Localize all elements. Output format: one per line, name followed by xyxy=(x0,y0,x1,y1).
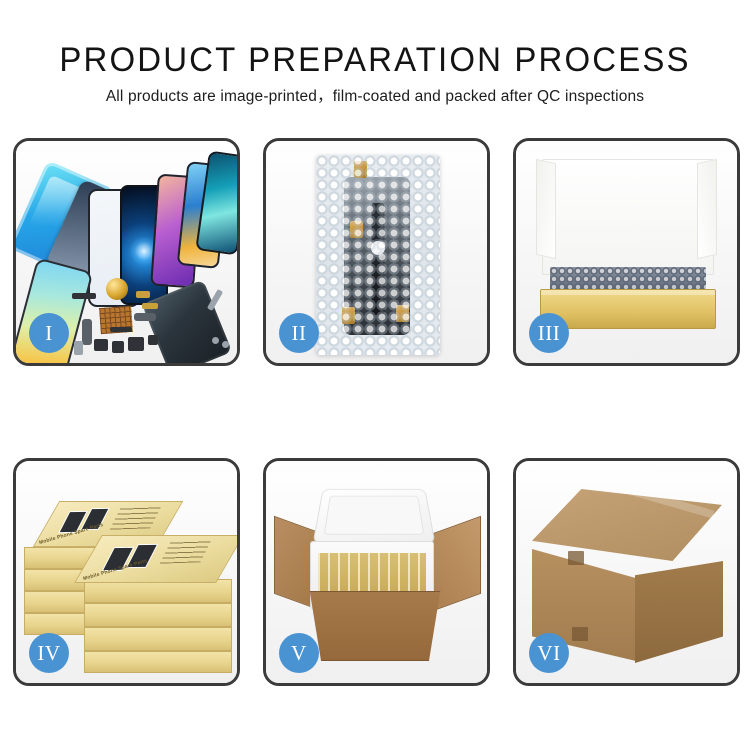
small-part xyxy=(134,313,156,321)
small-part xyxy=(94,339,108,351)
bubble-wrap-bag xyxy=(316,155,440,355)
small-part xyxy=(82,319,92,345)
carton-body xyxy=(304,591,446,661)
infographic-page: PRODUCT PREPARATION PROCESS All products… xyxy=(0,0,750,750)
screw-part xyxy=(222,341,229,348)
coil-part xyxy=(106,278,128,300)
page-subtitle: All products are image-printed，film-coat… xyxy=(0,87,750,107)
box-flap-left xyxy=(536,159,556,259)
step-panel-4: Mobile Phone Spare Parts Mobile Phone Sp… xyxy=(13,458,240,686)
carton-side-face xyxy=(635,561,723,663)
small-part xyxy=(128,337,144,351)
small-part xyxy=(110,327,132,332)
step-panel-6: VI xyxy=(513,458,740,686)
step-badge-5: V xyxy=(279,633,319,673)
foam-box-lid xyxy=(312,489,435,544)
step-badge-2: II xyxy=(279,313,319,353)
small-part xyxy=(72,293,96,299)
small-part xyxy=(74,341,83,355)
small-part xyxy=(136,291,150,298)
screw-part xyxy=(212,337,219,344)
stacked-box xyxy=(84,603,232,627)
step-badge-6: VI xyxy=(529,633,569,673)
white-box-lid xyxy=(542,159,714,275)
stacked-box xyxy=(84,651,232,673)
header: PRODUCT PREPARATION PROCESS All products… xyxy=(0,0,750,107)
carton-tape-mark xyxy=(572,627,588,641)
step-badge-4: IV xyxy=(29,633,69,673)
stacked-box xyxy=(84,627,232,651)
bubble-texture-overlay xyxy=(316,155,440,355)
step-panel-5: V xyxy=(263,458,490,686)
process-step-grid: I II xyxy=(13,138,739,686)
small-part xyxy=(142,303,158,309)
step-panel-1: I xyxy=(13,138,240,366)
carton-tape-mark xyxy=(568,551,584,565)
step-panel-2: II xyxy=(263,138,490,366)
small-part xyxy=(112,341,124,353)
small-part xyxy=(148,335,158,345)
step-panel-3: III xyxy=(513,138,740,366)
step-badge-3: III xyxy=(529,313,569,353)
box-flap-right xyxy=(697,159,717,259)
step-badge-1: I xyxy=(29,313,69,353)
carton-top-face xyxy=(532,489,722,561)
page-title: PRODUCT PREPARATION PROCESS xyxy=(11,40,739,80)
